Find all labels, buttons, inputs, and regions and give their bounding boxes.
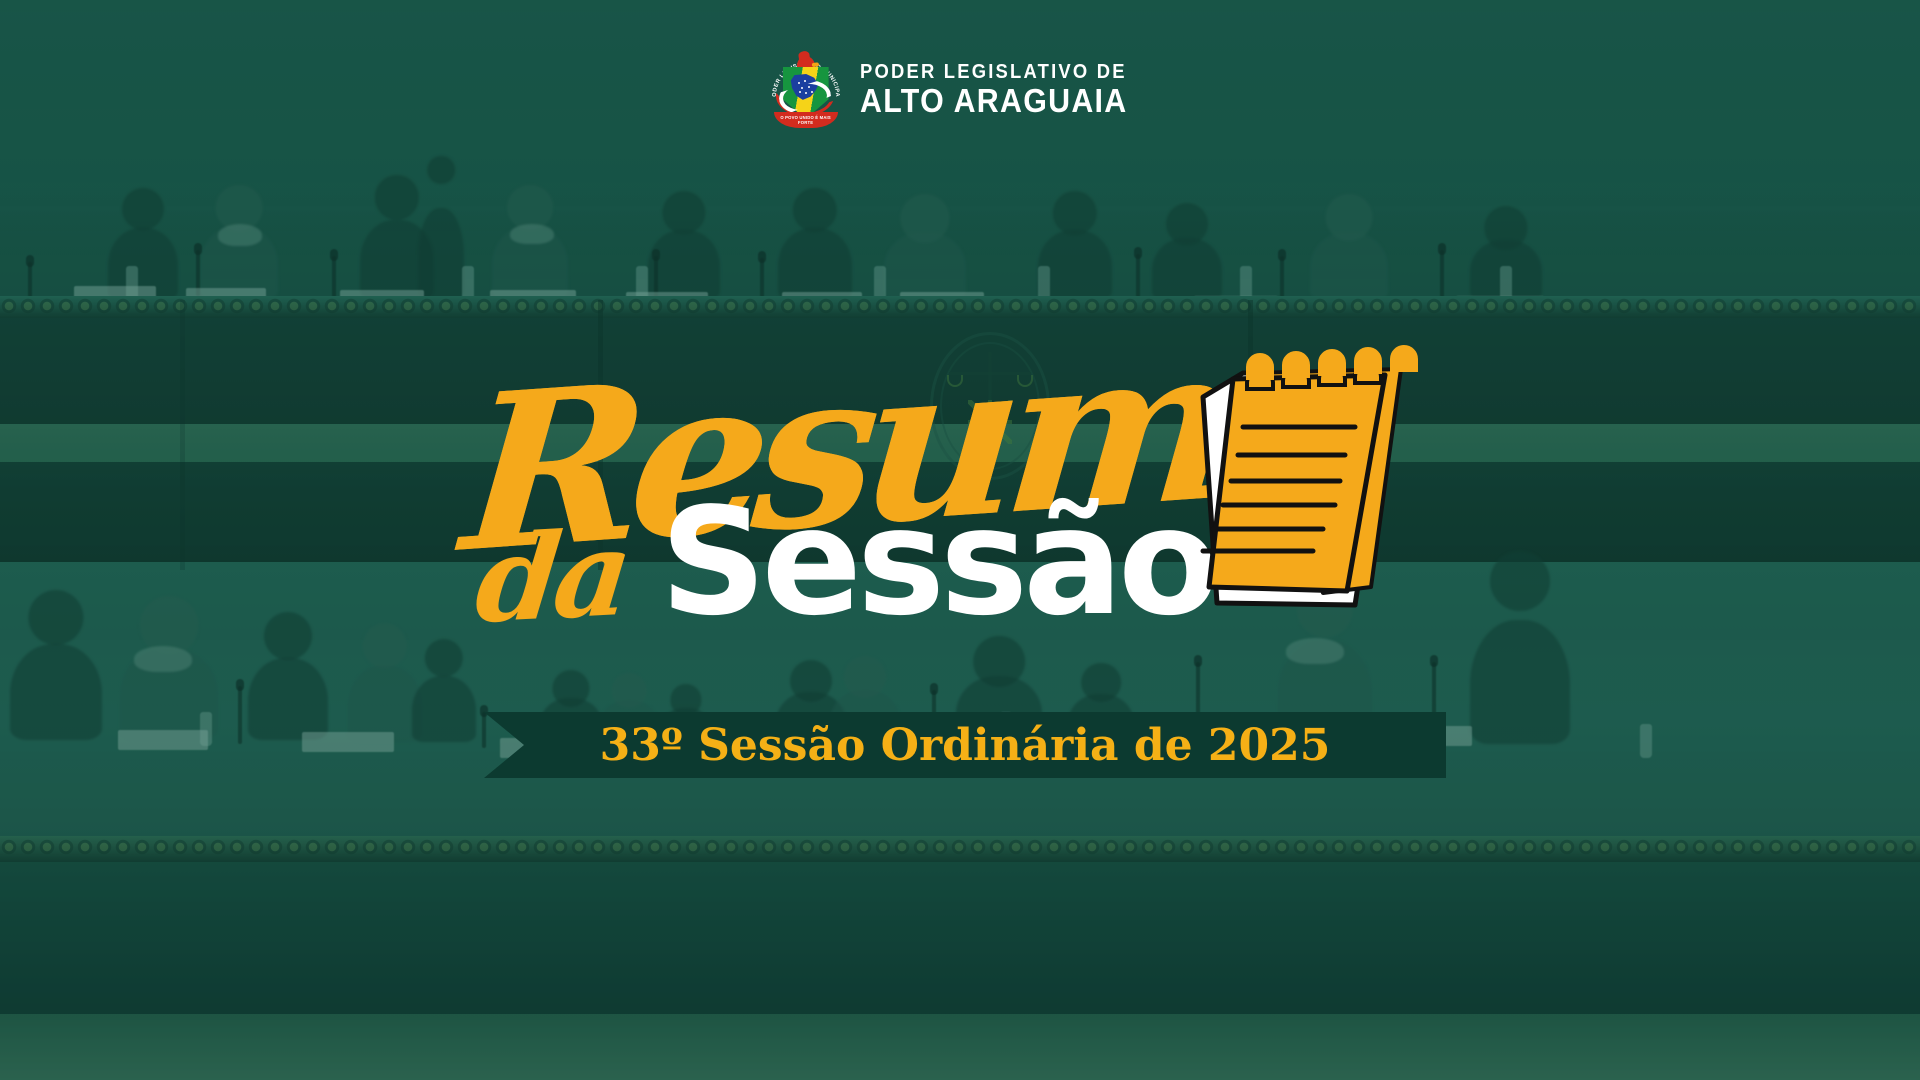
crest-motto-ribbon: O POVO UNIDO É MAIS FORTE <box>774 112 838 128</box>
session-ribbon-label: 33º Sessão Ordinária de 2025 <box>484 712 1446 778</box>
headline-bold-sessao: Sessão <box>660 492 1215 633</box>
resumo-da-sessao-banner: PODER LEGISLATIVO MUNICIPAL O POVO UNIDO… <box>0 0 1920 1080</box>
header-line-2: ALTO ARAGUAIA <box>860 84 1127 117</box>
header-logo: PODER LEGISLATIVO MUNICIPAL O POVO UNIDO… <box>0 50 1920 128</box>
header-line-1: PODER LEGISLATIVO DE <box>860 62 1127 82</box>
crest-motto-text: O POVO UNIDO É MAIS FORTE <box>774 115 838 125</box>
coat-of-arms-icon: PODER LEGISLATIVO MUNICIPAL O POVO UNIDO… <box>770 50 842 128</box>
notepad-icon <box>1195 355 1425 625</box>
header-logo-text: PODER LEGISLATIVO DE ALTO ARAGUAIA <box>860 62 1151 117</box>
headline-script-da: da <box>472 526 630 628</box>
